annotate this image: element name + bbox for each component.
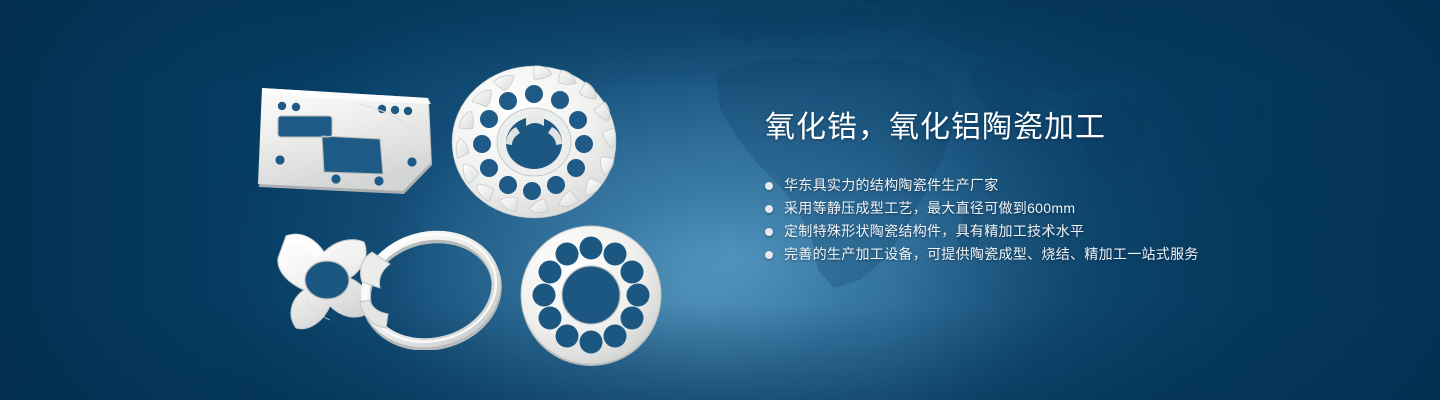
feature-text: 定制特殊形状陶瓷结构件，具有精加工技术水平 [784, 220, 1084, 243]
feature-list: 华东具实力的结构陶瓷件生产厂家 采用等静压成型工艺，最大直径可做到600mm 定… [765, 174, 1325, 266]
bullet-dot-icon [765, 182, 773, 190]
feature-text: 华东具实力的结构陶瓷件生产厂家 [784, 174, 999, 197]
ceramic-ring [356, 230, 506, 350]
list-item: 采用等静压成型工艺，最大直径可做到600mm [765, 197, 1325, 220]
ceramic-perforated-disc [518, 222, 664, 368]
ceramic-impeller [448, 58, 620, 222]
bullet-dot-icon [765, 251, 773, 259]
product-photo-group [0, 0, 720, 400]
ceramic-flat-plate [252, 82, 442, 204]
promo-banner: 氧化锆，氧化铝陶瓷加工 华东具实力的结构陶瓷件生产厂家 采用等静压成型工艺，最大… [0, 0, 1440, 400]
list-item: 完善的生产加工设备，可提供陶瓷成型、烧结、精加工一站式服务 [765, 243, 1325, 266]
page-title: 氧化锆，氧化铝陶瓷加工 [765, 108, 1325, 148]
list-item: 定制特殊形状陶瓷结构件，具有精加工技术水平 [765, 220, 1325, 243]
marketing-copy: 氧化锆，氧化铝陶瓷加工 华东具实力的结构陶瓷件生产厂家 采用等静压成型工艺，最大… [765, 108, 1325, 266]
feature-text: 完善的生产加工设备，可提供陶瓷成型、烧结、精加工一站式服务 [784, 243, 1199, 266]
feature-text: 采用等静压成型工艺，最大直径可做到600mm [784, 197, 1075, 220]
list-item: 华东具实力的结构陶瓷件生产厂家 [765, 174, 1325, 197]
bullet-dot-icon [765, 228, 773, 236]
bullet-dot-icon [765, 205, 773, 213]
